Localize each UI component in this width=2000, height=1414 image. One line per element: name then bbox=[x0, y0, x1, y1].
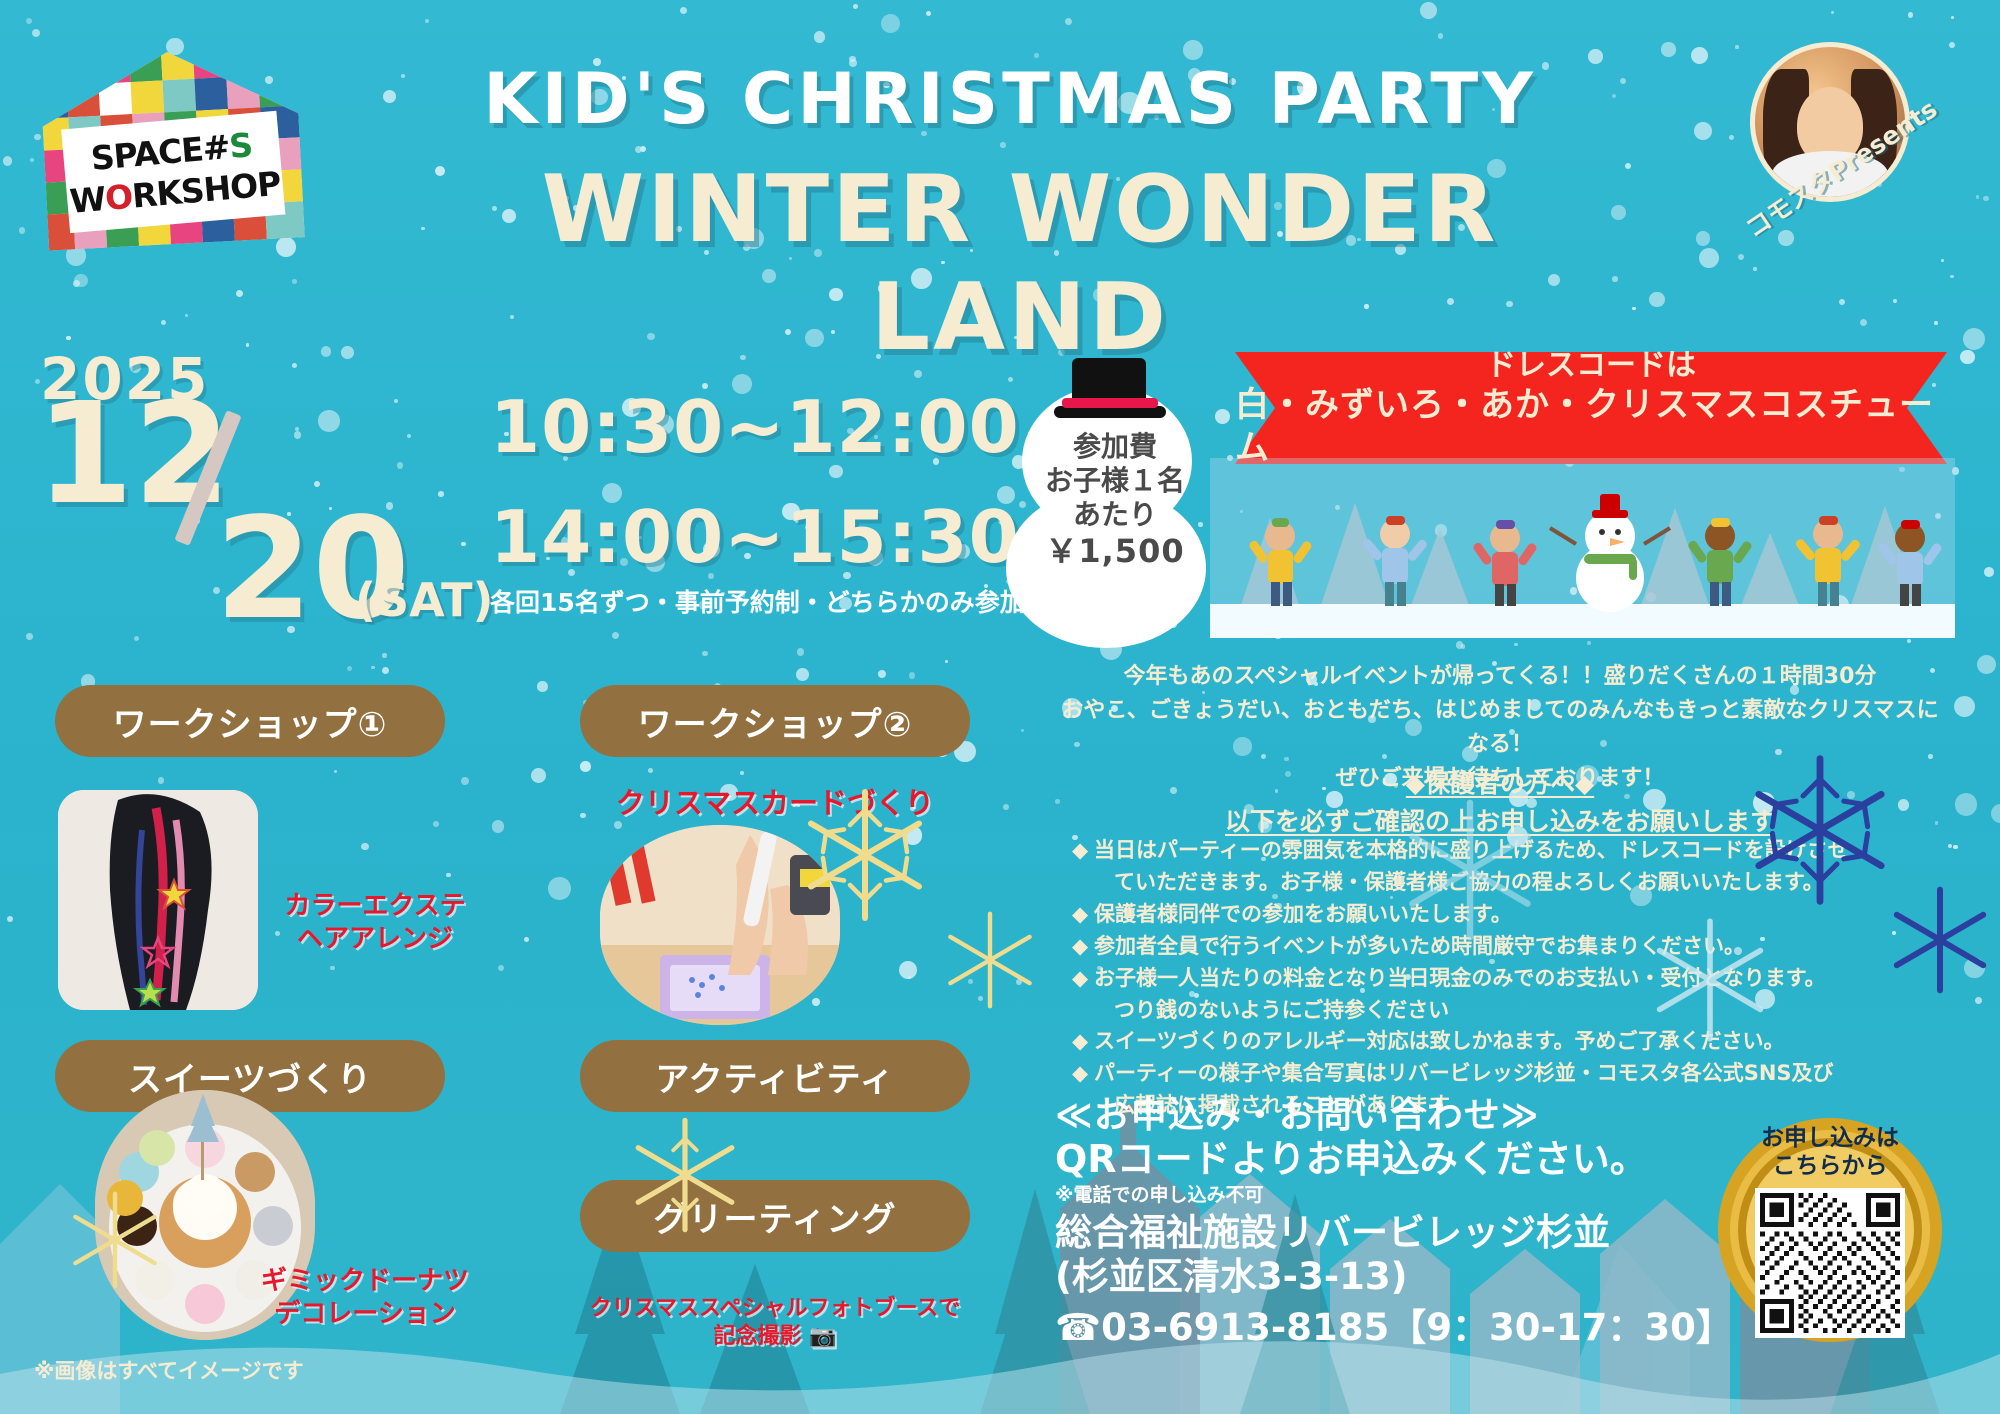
dresscode-ribbon: ドレスコードは 白・みずいろ・あか・クリスマスコスチューム bbox=[1235, 352, 1947, 464]
hair-photo bbox=[58, 790, 258, 1010]
pill-greeting[interactable]: グリーティング bbox=[580, 1180, 970, 1252]
event-weekday: (SAT) bbox=[355, 573, 494, 627]
fee-atari: あたり bbox=[1000, 498, 1230, 532]
contact-qr-line: QRコードよりお申込みください。 bbox=[1055, 1138, 1755, 1182]
qr-title-line-1: お申し込みは bbox=[1761, 1125, 1899, 1153]
qr-application-badge[interactable]: お申し込みは こちらから bbox=[1715, 1095, 1945, 1365]
image-disclaimer-note: ※画像はすべてイメージです bbox=[34, 1355, 304, 1385]
pill-workshop-2[interactable]: ワークショップ② bbox=[580, 685, 970, 757]
dresscode-line-2: 白・みずいろ・あか・クリスマスコスチューム bbox=[1235, 384, 1947, 469]
fee-label: 参加費 bbox=[1000, 430, 1230, 464]
caption-workshop-2: クリスマスカードづくり bbox=[575, 785, 975, 822]
contact-heading: ≪お申込み・お問い合わせ≫ bbox=[1055, 1095, 1755, 1136]
logo-text-plate: SPACE#S WORKSHOP bbox=[61, 111, 285, 233]
guardian-heading: ◆保護者の方へ◆ bbox=[1406, 769, 1594, 798]
space-workshop-logo: SPACE#S WORKSHOP bbox=[33, 41, 311, 255]
guardian-notice-item: 当日はパーティーの雰囲気を本格的に盛り上げるため、ドレスコードを設けさせ bbox=[1072, 835, 1972, 867]
contact-block: ≪お申込み・お問い合わせ≫ QRコードよりお申込みください。 ※電話での申し込み… bbox=[1055, 1095, 1755, 1350]
caption-greeting: クリスマススペシャルフォトブースで記念撮影 📷 bbox=[565, 1295, 985, 1351]
contact-phone: ☎03-6913-8185【9：30-17：30】 bbox=[1055, 1306, 1755, 1350]
guardian-notice-item: お子様一人当たりの料金となり当日現金のみでのお支払い・受付となります。 bbox=[1072, 963, 1972, 995]
guardian-notice-item: ていただきます。お子様・保護者様ご協力の程よろしくお願いいたします。 bbox=[1072, 867, 1972, 899]
intro-line-1: 今年もあのスペシャルイベントが帰ってくる！！盛りだくさんの１時間30分 bbox=[1055, 660, 1945, 694]
time-note: 各回15名ずつ・事前予約制・どちらかのみ参加可 bbox=[490, 583, 1050, 619]
caption-workshop-1: カラーエクステヘアアレンジ bbox=[250, 890, 500, 957]
pill-workshop-1[interactable]: ワークショップ① bbox=[55, 685, 445, 757]
kids-snow-illustration bbox=[1210, 458, 1955, 638]
card-photo bbox=[600, 825, 840, 1025]
fee-per: お子様１名 bbox=[1000, 464, 1230, 498]
guardian-notice-item: つり銭のないようにご持参ください bbox=[1072, 995, 1972, 1027]
guardian-notice-item: パーティーの様子や集合写真はリバービレッジ杉並・コモスタ各公式SNS及び bbox=[1072, 1058, 1972, 1090]
time-slot-1: 10:30~12:00 bbox=[490, 385, 1020, 469]
pill-activity[interactable]: アクティビティ bbox=[580, 1040, 970, 1112]
guardian-notice-item: 保護者様同伴での参加をお願いいたします。 bbox=[1072, 899, 1972, 931]
fee-price: ￥1,500 bbox=[1000, 532, 1230, 571]
guardian-subheading: 以下を必ずご確認の上お申し込みをお願いします bbox=[1225, 807, 1775, 836]
contact-tel-note: ※電話での申し込み不可 bbox=[1055, 1184, 1755, 1207]
qr-title-line-2: こちらから bbox=[1761, 1153, 1899, 1181]
contact-address: (杉並区清水3-3-13) bbox=[1055, 1255, 1755, 1299]
caption-sweets: ギミックドーナツデコレーション bbox=[230, 1265, 500, 1332]
qr-code-image[interactable] bbox=[1755, 1188, 1905, 1338]
event-title-line-1: KID'S CHRISTMAS PARTY bbox=[480, 58, 1540, 140]
time-slot-2: 14:00~15:30 bbox=[490, 495, 1020, 579]
guardian-heading-block: ◆保護者の方へ◆ 以下を必ずご確認の上お申し込みをお願いします bbox=[1055, 765, 1945, 840]
intro-line-2: おやこ、ごきょうだい、おともだち、はじめましてのみんなもきっと素敵なクリスマスに… bbox=[1055, 694, 1945, 762]
poster-canvas: SPACE#S WORKSHOP KID'S CHRISTMAS PARTY W… bbox=[0, 0, 2000, 1414]
guardian-notice-item: スイーツづくりのアレルギー対応は致しかねます。予めご了承ください。 bbox=[1072, 1026, 1972, 1058]
dresscode-line-1: ドレスコードは bbox=[1486, 347, 1696, 385]
guardian-notice-list: 当日はパーティーの雰囲気を本格的に盛り上げるため、ドレスコードを設けさせていただ… bbox=[1072, 835, 1972, 1122]
guardian-notice-item: 参加者全員で行うイベントが多いため時間厳守でお集まりください。 bbox=[1072, 931, 1972, 963]
fee-snowman-badge: 参加費 お子様１名 あたり ￥1,500 bbox=[1000, 330, 1230, 610]
contact-facility: 総合福祉施設リバービレッジ杉並 bbox=[1055, 1211, 1755, 1255]
